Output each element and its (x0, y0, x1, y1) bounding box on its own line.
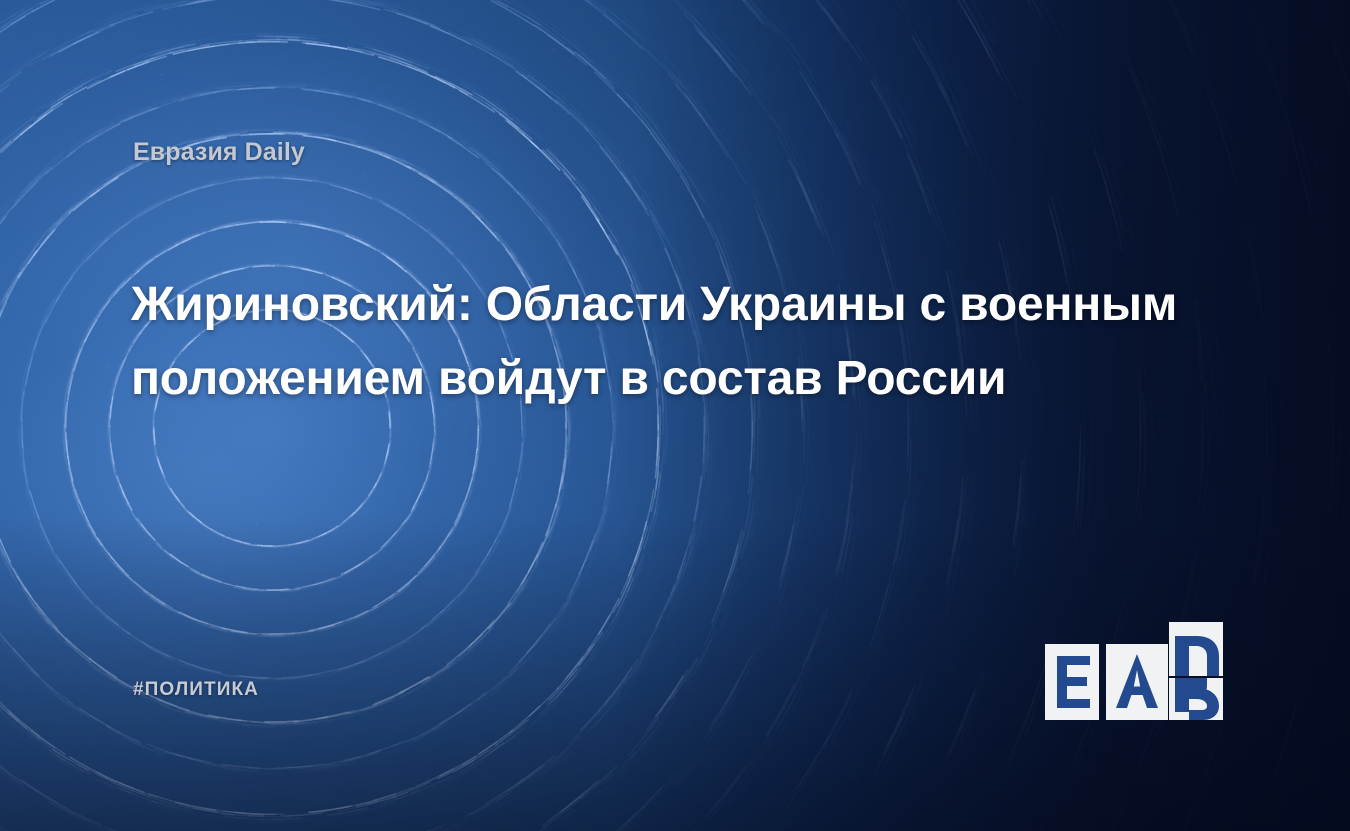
brand-name: Евразия Daily (133, 138, 305, 167)
news-card: Евразия Daily Жириновский: Области Украи… (0, 0, 1350, 831)
hashtag-politics: #ПОЛИТИКА (133, 679, 259, 701)
logo-tile-a (1106, 644, 1168, 720)
card-content: Евразия Daily Жириновский: Области Украи… (0, 0, 1350, 831)
logo-tile-d-upper (1169, 622, 1223, 676)
logo-tile-d-lower (1169, 678, 1223, 720)
headline-title: Жириновский: Области Украины с военным п… (131, 268, 1251, 416)
logo-tile-e (1045, 644, 1099, 720)
eadaily-logo (1045, 622, 1223, 720)
